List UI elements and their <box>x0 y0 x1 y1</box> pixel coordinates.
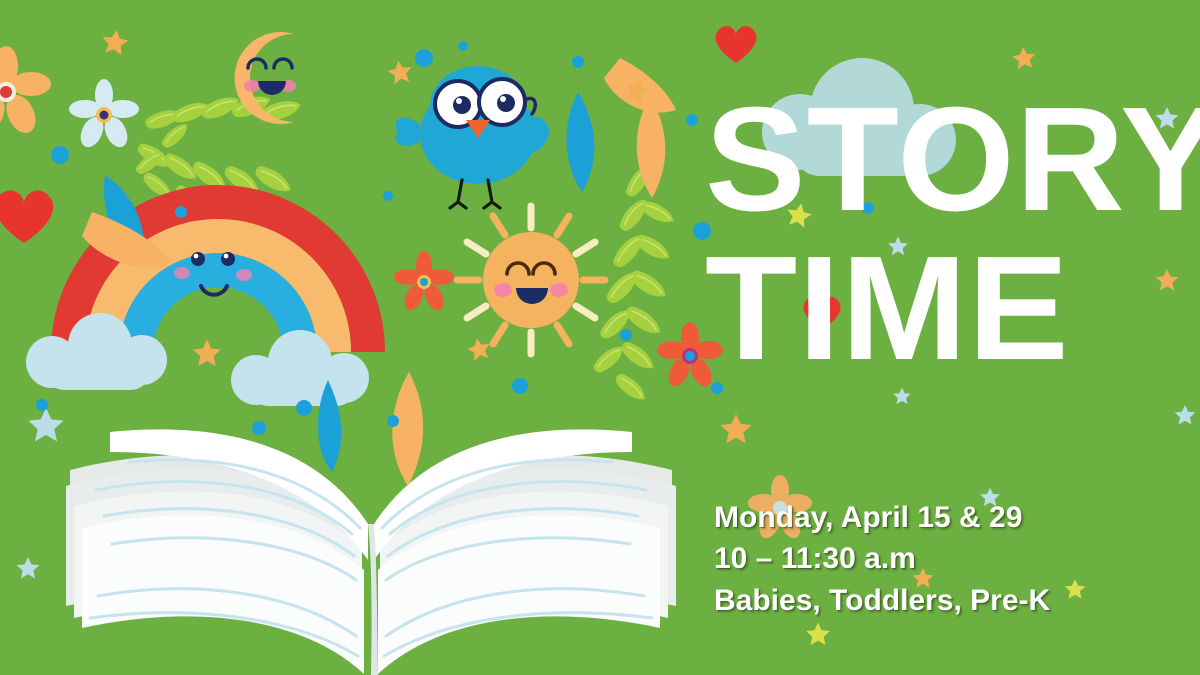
dot-icon-1 <box>51 146 69 164</box>
detail-line-time: 10 – 11:30 a.m <box>714 538 1194 579</box>
detail-line-date: Monday, April 15 & 29 <box>714 497 1194 538</box>
dot-icon-16 <box>686 114 698 126</box>
dot-icon-12 <box>252 421 266 435</box>
dot-icon-11 <box>36 399 48 411</box>
dot-icon-8 <box>620 329 632 341</box>
dot-icon-3 <box>415 49 433 67</box>
dot-icon-4 <box>458 41 468 51</box>
dot-icon-5 <box>572 56 584 68</box>
dot-icon-2 <box>175 206 187 218</box>
dot-icon-6 <box>383 191 393 201</box>
dot-icon-9 <box>512 378 528 394</box>
detail-line-audience: Babies, Toddlers, Pre-K <box>714 580 1194 621</box>
dot-icon-13 <box>387 415 399 427</box>
dot-icon-10 <box>296 400 312 416</box>
dot-icon-7 <box>693 222 711 240</box>
poster-details: Monday, April 15 & 29 10 – 11:30 a.m Bab… <box>714 497 1194 621</box>
dot-icon-15 <box>862 202 874 214</box>
dot-icon-14 <box>711 382 723 394</box>
story-time-poster: STORY TIME Monday, April 15 & 29 10 – 11… <box>0 0 1200 675</box>
